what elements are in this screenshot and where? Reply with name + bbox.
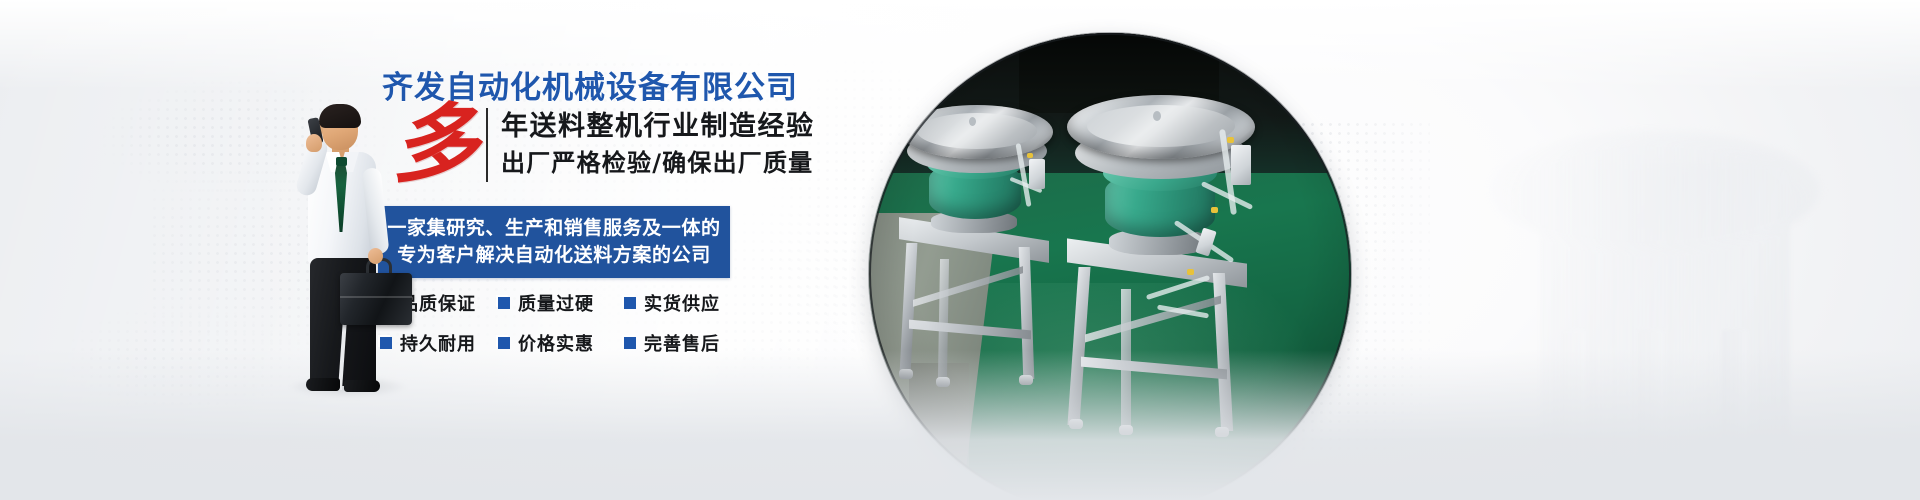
feature-item: 持久耐用: [380, 330, 498, 356]
feature-item: 质量过硬: [498, 290, 624, 316]
description-box: 一家集研究、生产和销售服务及一体的 专为客户解决自动化送料方案的公司: [378, 206, 730, 278]
description-line-1: 一家集研究、生产和销售服务及一体的: [378, 215, 730, 242]
feature-list: 品质保证 质量过硬 实货供应 持久耐用 价格实惠 完善售后: [380, 290, 750, 356]
square-bullet-icon: [498, 297, 510, 309]
slogan-divider: [486, 108, 488, 182]
product-photo: [869, 33, 1351, 500]
slogan-lines: 年送料整机行业制造经验 出厂严格检验/确保出厂质量: [501, 111, 815, 179]
feature-label: 价格实惠: [518, 330, 594, 356]
feature-item: 实货供应: [624, 290, 744, 316]
dot-map-pattern: [60, 300, 320, 420]
square-bullet-icon: [624, 337, 636, 349]
slogan-line-1: 年送料整机行业制造经验: [501, 111, 815, 144]
briefcase-icon: [340, 273, 412, 325]
feature-item: 价格实惠: [498, 330, 624, 356]
feature-label: 持久耐用: [400, 330, 476, 356]
highlight-character: 多: [392, 110, 484, 181]
hero-banner: 齐发自动化机械设备有限公司 多 年送料整机行业制造经验 出厂严格检验/确保出厂质…: [0, 0, 1920, 500]
feature-label: 质量过硬: [518, 290, 594, 316]
feature-label: 实货供应: [644, 290, 720, 316]
slogan-block: 多 年送料整机行业制造经验 出厂严格检验/确保出厂质量: [392, 108, 815, 182]
feature-label: 完善售后: [644, 330, 720, 356]
description-line-2: 专为客户解决自动化送料方案的公司: [378, 242, 730, 269]
square-bullet-icon: [498, 337, 510, 349]
feature-item: 完善售后: [624, 330, 744, 356]
square-bullet-icon: [624, 297, 636, 309]
ghost-machine-watermark: [1370, 80, 1920, 500]
slogan-line-2: 出厂严格检验/确保出厂质量: [501, 148, 815, 179]
square-bullet-icon: [380, 337, 392, 349]
